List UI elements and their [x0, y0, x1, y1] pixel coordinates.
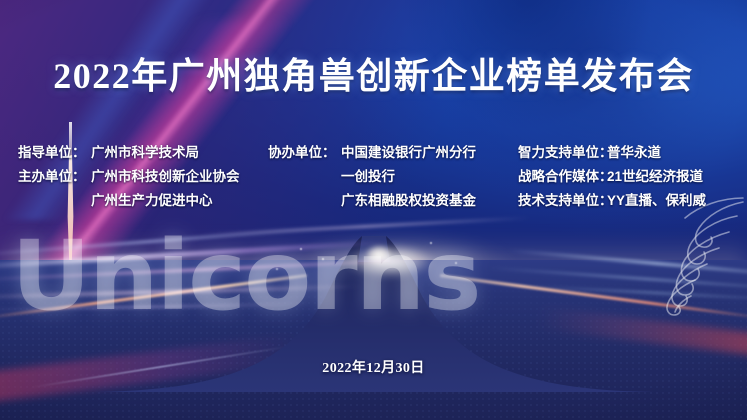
credit-label: 协办单位：: [268, 141, 341, 165]
sparkle-icon: [430, 242, 432, 244]
credit-value: 广州市科学技术局: [91, 141, 199, 165]
credit-label: 战略合作媒体：: [518, 165, 607, 189]
page-title: 2022年广州独角兽创新企业榜单发布会: [0, 47, 747, 99]
credit-line: 指导单位： 广州市科学技术局: [18, 141, 240, 165]
credit-line: 技术支持单位： YY直播、保利威: [518, 189, 706, 213]
sparkle-icon: [300, 248, 302, 250]
credit-line: 广州生产力促进中心: [18, 189, 240, 213]
credit-line: 战略合作媒体： 21世纪经济报道: [518, 165, 706, 189]
credit-line: 广东相融股权投资基金: [268, 189, 476, 213]
credit-value: YY直播、保利威: [607, 189, 706, 213]
credit-value: 广东相融股权投资基金: [341, 189, 476, 213]
credit-line: 协办单位： 中国建设银行广州分行: [268, 141, 476, 165]
event-poster: Unicorns 2022年广州独角兽创新企业榜单发布会 指导单位： 广州市科学…: [0, 0, 747, 420]
credit-value: 广州生产力促进中心: [91, 189, 213, 213]
credit-label: 技术支持单位：: [518, 189, 607, 213]
sparkle-icon: [322, 258, 324, 260]
sparkle-icon: [276, 268, 278, 270]
credit-value: 中国建设银行广州分行: [341, 141, 476, 165]
credit-line: 主办单位： 广州市科技创新企业协会: [18, 165, 240, 189]
sparkle-icon: [455, 262, 457, 264]
credits-column-right: 智力支持单位： 普华永道 战略合作媒体： 21世纪经济报道 技术支持单位： YY…: [518, 141, 706, 213]
credits-block: 指导单位： 广州市科学技术局 主办单位： 广州市科技创新企业协会 广州生产力促进…: [0, 141, 747, 213]
credits-column-left: 指导单位： 广州市科学技术局 主办单位： 广州市科技创新企业协会 广州生产力促进…: [18, 141, 240, 213]
credit-value: 21世纪经济报道: [607, 165, 703, 189]
credit-label: 指导单位：: [18, 141, 91, 165]
credit-value: 普华永道: [607, 141, 661, 165]
credit-label: 智力支持单位：: [518, 141, 607, 165]
credit-value: 一创投行: [341, 165, 395, 189]
auspicious-cloud-icon: [595, 196, 745, 326]
credits-column-middle: 协办单位： 中国建设银行广州分行 一创投行 广东相融股权投资基金: [268, 141, 476, 213]
event-date: 2022年12月30日: [0, 357, 747, 377]
credit-line: 智力支持单位： 普华永道: [518, 141, 706, 165]
credit-label: 主办单位：: [18, 165, 91, 189]
credit-value: 广州市科技创新企业协会: [91, 165, 240, 189]
credit-line: 一创投行: [268, 165, 476, 189]
